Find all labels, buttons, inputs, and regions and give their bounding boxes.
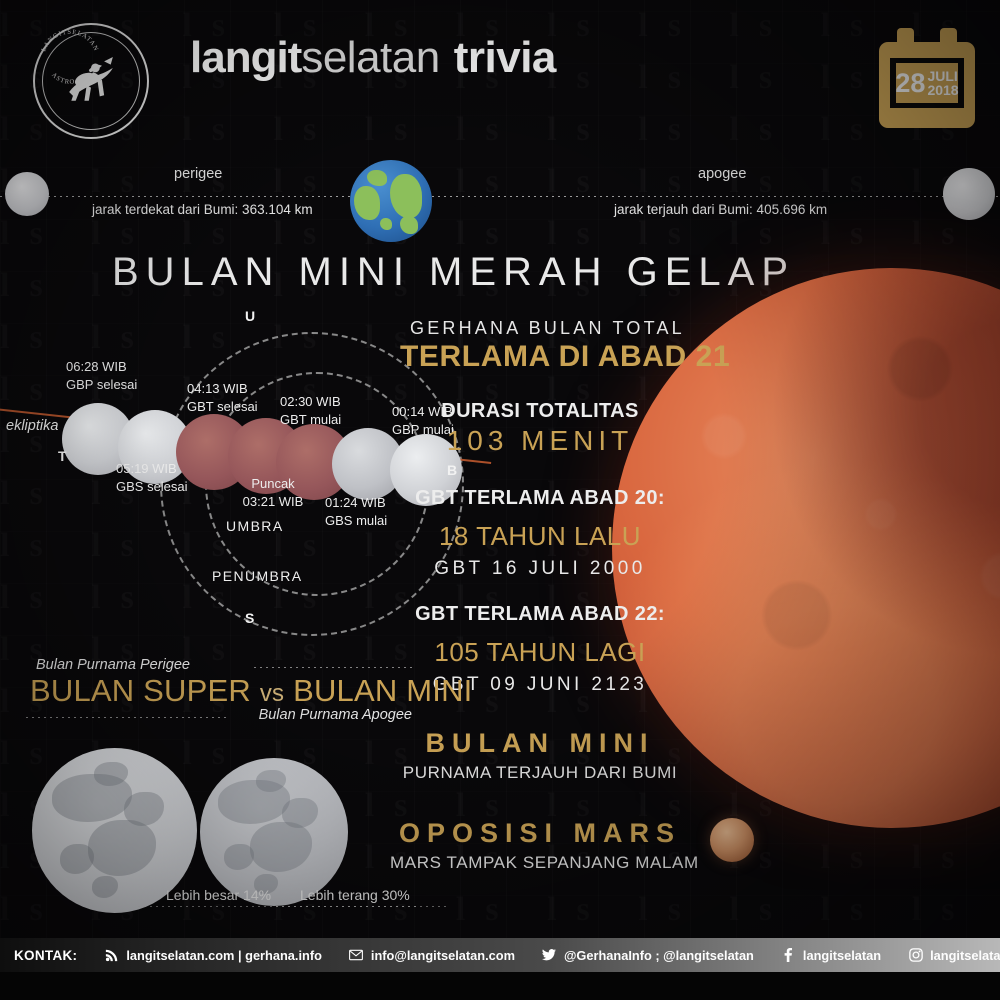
- envelope-icon: [348, 948, 365, 963]
- contact-label: KONTAK:: [14, 948, 77, 963]
- footer-bottom-strip: [0, 972, 1000, 1000]
- infographic-canvas: ls ls ls ls ls ls ls ls ls ls ls ls ls l…: [0, 0, 1000, 1000]
- contact-website[interactable]: langitselatan.com | gerhana.info: [103, 948, 322, 963]
- contact-twitter-text: @GerhanaInfo ; @langitselatan: [564, 948, 754, 963]
- vignette-overlay: [0, 0, 1000, 1000]
- contact-instagram-text: langitselatanmedia: [930, 948, 1000, 963]
- twitter-icon: [541, 948, 558, 963]
- contact-facebook-text: langitselatan: [803, 948, 881, 963]
- rss-icon: [103, 948, 120, 963]
- contact-twitter[interactable]: @GerhanaInfo ; @langitselatan: [541, 948, 754, 963]
- instagram-icon: [907, 948, 924, 963]
- contact-instagram[interactable]: langitselatanmedia: [907, 948, 1000, 963]
- facebook-icon: [780, 948, 797, 963]
- contact-email[interactable]: info@langitselatan.com: [348, 948, 515, 963]
- contact-email-text: info@langitselatan.com: [371, 948, 515, 963]
- contact-website-text: langitselatan.com | gerhana.info: [126, 948, 322, 963]
- contact-footer-bar: KONTAK: langitselatan.com | gerhana.info…: [0, 938, 1000, 972]
- contact-facebook[interactable]: langitselatan: [780, 948, 881, 963]
